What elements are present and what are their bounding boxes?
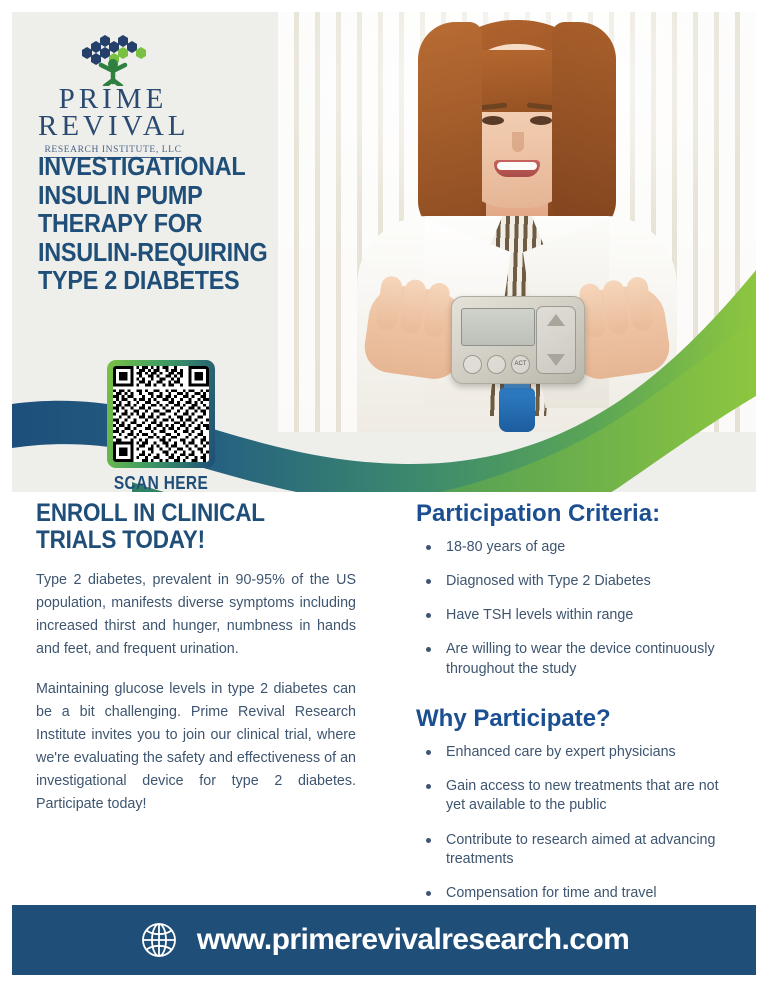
participation-criteria-heading: Participation Criteria: — [416, 500, 732, 528]
logo-name-revival: REVIVAL — [38, 113, 188, 140]
list-item: Gain access to new treatments that are n… — [416, 777, 732, 816]
teeth — [497, 162, 537, 170]
insulin-vial — [499, 388, 535, 432]
list-item-label: Have TSH levels within range — [446, 607, 633, 623]
enroll-heading: ENROLL IN CLINICAL TRIALS TODAY! — [36, 500, 324, 553]
bullet-dot-icon — [426, 613, 431, 618]
list-item: Are willing to wear the device continuou… — [416, 640, 732, 679]
hero-headline: INVESTIGATIONAL INSULIN PUMP THERAPY FOR… — [38, 152, 299, 295]
pump-button-act: ACT — [511, 355, 530, 374]
scan-here-label: SCAN HERE — [109, 473, 214, 492]
bullet-dot-icon — [426, 579, 431, 584]
logo-name-prime: PRIME — [38, 86, 188, 113]
bullet-dot-icon — [426, 545, 431, 550]
bullet-dot-icon — [426, 647, 431, 652]
left-column: ENROLL IN CLINICAL TRIALS TODAY! Type 2 … — [36, 500, 356, 831]
paragraph-1: Type 2 diabetes, prevalent in 90-95% of … — [36, 569, 356, 662]
list-item: Contribute to research aimed at advancin… — [416, 831, 732, 870]
bullet-dot-icon — [426, 891, 431, 896]
list-item-label: Compensation for time and travel — [446, 885, 657, 901]
footer-bar: www.primerevivalresearch.com — [12, 905, 756, 975]
qr-code-icon[interactable] — [113, 366, 209, 462]
globe-icon — [139, 920, 179, 960]
hero-photo: ACT — [278, 12, 756, 432]
content-area: ENROLL IN CLINICAL TRIALS TODAY! Type 2 … — [12, 494, 756, 898]
list-item: Enhanced care by expert physicians — [416, 743, 732, 762]
nose — [512, 132, 524, 152]
website-url[interactable]: www.primerevivalresearch.com — [197, 923, 629, 957]
pump-button-1 — [463, 355, 482, 374]
eye-right — [530, 116, 552, 125]
list-item-label: Gain access to new treatments that are n… — [446, 778, 719, 813]
list-item-label: 18-80 years of age — [446, 539, 565, 555]
pump-lcd-screen — [461, 308, 535, 346]
list-item: 18-80 years of age — [416, 538, 732, 557]
pump-arrow-pad — [536, 306, 576, 374]
list-item: Have TSH levels within range — [416, 606, 732, 625]
list-item: Compensation for time and travel — [416, 884, 732, 903]
qr-code-frame[interactable] — [107, 360, 215, 468]
list-item-label: Contribute to research aimed at advancin… — [446, 832, 715, 867]
woman-figure: ACT — [352, 20, 682, 432]
eye-left — [482, 116, 504, 125]
hair-front-left — [418, 22, 482, 234]
list-item-label: Diagnosed with Type 2 Diabetes — [446, 573, 651, 589]
pump-up-arrow-icon — [547, 314, 565, 326]
bullet-dot-icon — [426, 838, 431, 843]
smiling-mouth — [494, 160, 540, 177]
criteria-list: 18-80 years of age Diagnosed with Type 2… — [416, 538, 732, 679]
hexagon-tree-person-icon — [38, 34, 188, 86]
hero-panel: ACT — [12, 12, 756, 492]
pump-button-2 — [487, 355, 506, 374]
hair-front-right — [552, 22, 616, 234]
bullet-dot-icon — [426, 750, 431, 755]
brand-logo: PRIME REVIVAL RESEARCH INSTITUTE, LLC — [38, 34, 188, 158]
paragraph-2: Maintaining glucose levels in type 2 dia… — [36, 678, 356, 817]
why-list: Enhanced care by expert physicians Gain … — [416, 743, 732, 904]
bullet-dot-icon — [426, 784, 431, 789]
list-item-label: Are willing to wear the device continuou… — [446, 641, 715, 676]
qr-code-block[interactable]: SCAN HERE — [100, 360, 222, 492]
right-column: Participation Criteria: 18-80 years of a… — [416, 500, 732, 918]
list-item-label: Enhanced care by expert physicians — [446, 744, 676, 760]
why-participate-section: Why Participate? Enhanced care by expert… — [416, 705, 732, 903]
pump-down-arrow-icon — [547, 354, 565, 366]
list-item: Diagnosed with Type 2 Diabetes — [416, 572, 732, 591]
flyer-page: ACT — [0, 0, 768, 987]
insulin-pump-device: ACT — [451, 296, 585, 384]
why-participate-heading: Why Participate? — [416, 705, 732, 733]
